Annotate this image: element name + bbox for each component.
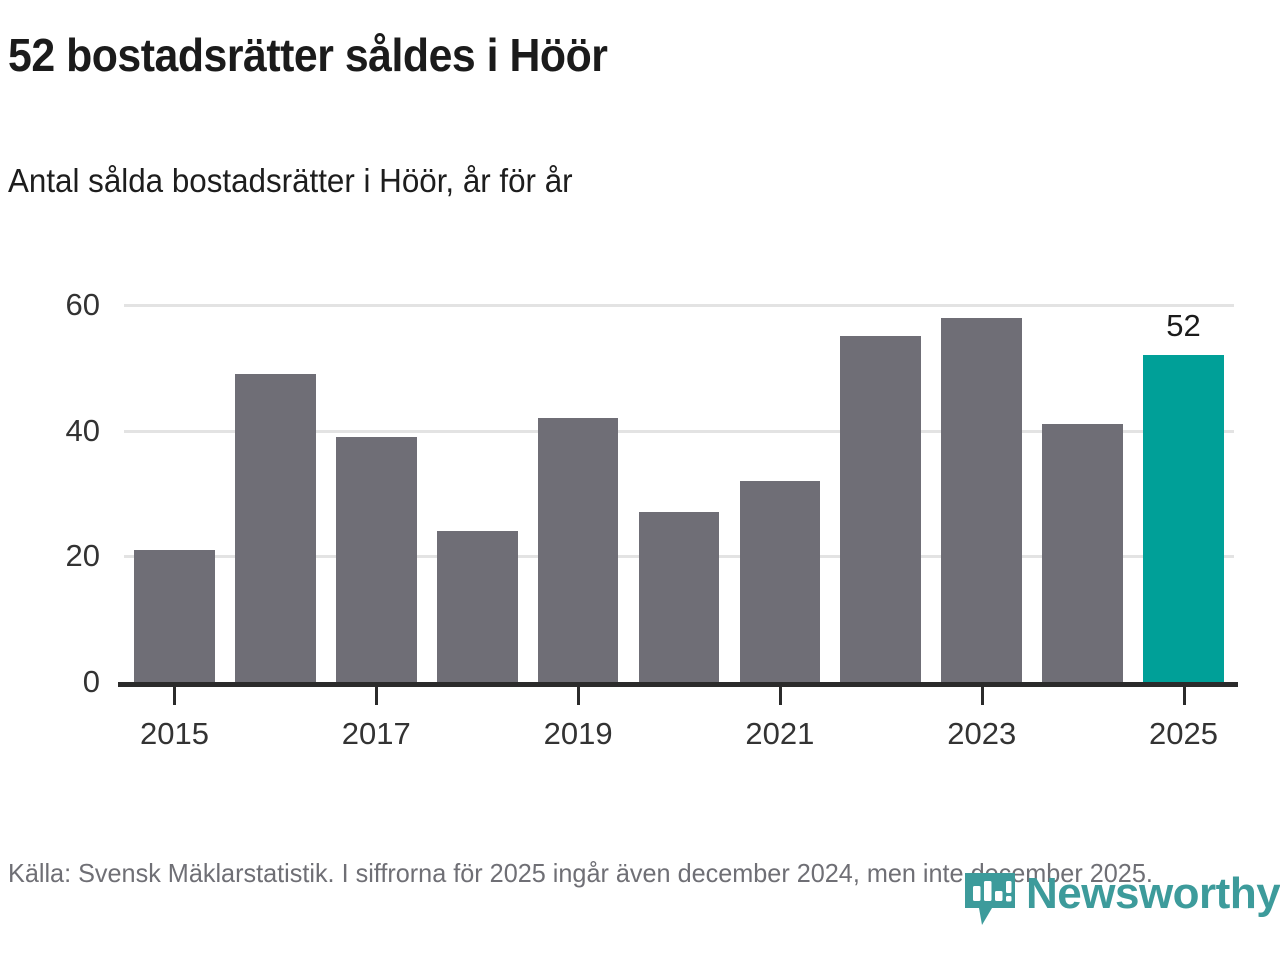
bar-2022[interactable] (840, 336, 921, 682)
bar-2024[interactable] (1042, 424, 1123, 682)
bar-chart-plot-area: 0204060 52 201520172019202120232025 (0, 0, 1280, 760)
x-tick-label-2023: 2023 (931, 718, 1032, 749)
x-tick-label-2025: 2025 (1133, 718, 1234, 749)
x-tick-label-2015: 2015 (124, 718, 225, 749)
bar-value-label-2025: 52 (1133, 310, 1234, 341)
bar-2018[interactable] (437, 531, 518, 682)
bar-2023[interactable] (941, 318, 1022, 682)
newsworthy-logo[interactable]: Newsworthy (962, 868, 1274, 930)
x-tick-2025 (1183, 687, 1186, 705)
bar-2019[interactable] (538, 418, 619, 682)
newsworthy-wordmark: Newsworthy (1026, 869, 1280, 919)
y-tick-label-0: 0 (0, 666, 100, 697)
newsworthy-bar-chart-bubble-icon (962, 870, 1018, 928)
chart-page: 52 bostadsrätter såldes i Höör Antal sål… (0, 0, 1280, 960)
bar-2025[interactable] (1143, 355, 1224, 682)
x-axis-line (118, 682, 1238, 687)
bar-2016[interactable] (235, 374, 316, 682)
bar-2017[interactable] (336, 437, 417, 682)
gridline-60 (124, 304, 1234, 307)
bar-2021[interactable] (740, 481, 821, 682)
x-tick-2023 (981, 687, 984, 705)
x-tick-2015 (173, 687, 176, 705)
bar-2015[interactable] (134, 550, 215, 682)
y-tick-label-60: 60 (0, 289, 100, 320)
x-tick-2021 (779, 687, 782, 705)
y-tick-label-20: 20 (0, 540, 100, 571)
bar-2020[interactable] (639, 512, 720, 682)
x-tick-label-2019: 2019 (528, 718, 629, 749)
y-tick-label-40: 40 (0, 415, 100, 446)
x-tick-label-2017: 2017 (326, 718, 427, 749)
x-tick-2019 (577, 687, 580, 705)
x-tick-2017 (375, 687, 378, 705)
x-tick-label-2021: 2021 (729, 718, 830, 749)
